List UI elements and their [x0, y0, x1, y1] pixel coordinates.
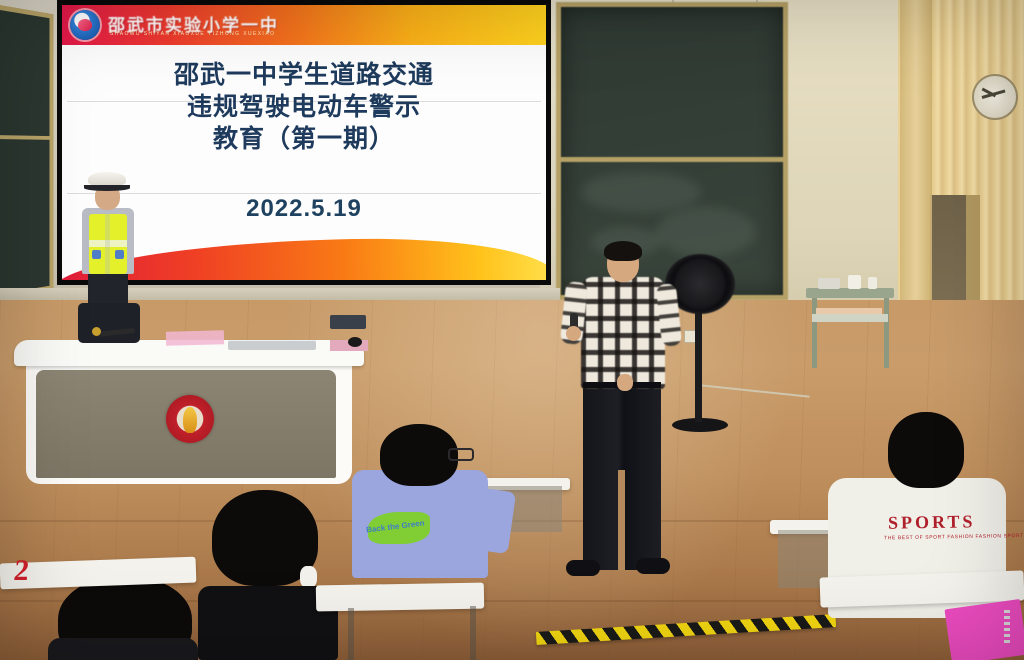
- speaker-leg-gap: [618, 470, 625, 570]
- desk-leg: [348, 608, 354, 660]
- fan-pole: [695, 300, 702, 422]
- lectern: [14, 340, 364, 495]
- student-blue-tee-hair: [380, 424, 458, 486]
- slide-title-line-1: 邵武一中学生道路交通: [62, 59, 546, 91]
- slide-banner: 邵武市实验小学一中 SHAOWU SHIYAN XIAOXUE YIZHONG …: [62, 5, 546, 45]
- officer-cap-brim: [84, 185, 130, 191]
- monitor: [330, 315, 366, 329]
- slide-title-line-2: 违规驾驶电动车警示: [62, 91, 546, 123]
- chalk-smudge: [581, 172, 701, 212]
- screen-panel-seam: [67, 193, 541, 194]
- notebook-spiral: [1004, 610, 1010, 644]
- speaker-plaid-shirt: [581, 277, 665, 389]
- student-desk-front-center: [316, 583, 484, 612]
- slide-title-line-3: 教育（第一期）: [62, 123, 546, 155]
- vest-badge-icon: [92, 250, 101, 259]
- desk-leg: [470, 606, 476, 660]
- speaker-hand: [617, 374, 633, 391]
- school-emblem: [166, 395, 214, 443]
- banner-school-name-en: SHAOWU SHIYAN XIAOXUE YIZHONG XUEXIAO: [110, 31, 275, 37]
- screen-content: 邵武市实验小学一中 SHAOWU SHIYAN XIAOXUE YIZHONG …: [62, 5, 546, 280]
- slide-date: 2022.5.19: [62, 195, 546, 223]
- side-table: [806, 288, 894, 298]
- speaker-shoe: [566, 560, 600, 576]
- side-table-shelf: [812, 314, 888, 322]
- screen-panel-seam: [67, 101, 541, 102]
- side-table-leg: [884, 296, 889, 368]
- speaker-hair: [604, 241, 642, 261]
- right-blackboard: [556, 2, 788, 300]
- glasses-icon: [448, 448, 474, 461]
- student-front-left-body: [48, 638, 198, 660]
- school-badge-icon: [70, 10, 100, 40]
- pink-notebook: [944, 599, 1024, 660]
- keyboard[interactable]: [228, 340, 316, 350]
- slide-body: 邵武一中学生道路交通 违规驾驶电动车警示 教育（第一期） 2022.5.19: [62, 45, 546, 280]
- wall-clock: [972, 74, 1018, 120]
- sports-shirt-print: SPORTS: [888, 511, 976, 534]
- side-table-cup: [848, 275, 861, 289]
- officer-hi-vis-vest: [89, 214, 127, 274]
- microphone-head: [92, 327, 101, 336]
- mouse[interactable]: [348, 337, 362, 347]
- blackboard-divider: [0, 135, 49, 140]
- side-table-box: [818, 278, 840, 289]
- left-blackboard: [0, 4, 53, 300]
- office-chair-back: [78, 303, 140, 343]
- side-table-cup: [868, 277, 877, 289]
- officer-cap: [88, 172, 126, 186]
- vest-badge-icon: [115, 250, 124, 259]
- blackboard-divider: [561, 157, 783, 162]
- pink-paper: [166, 330, 224, 346]
- chalk-smudge: [656, 207, 756, 257]
- slide-title: 邵武一中学生道路交通 违规驾驶电动车警示 教育（第一期）: [62, 59, 546, 155]
- speaker-hand: [566, 326, 581, 341]
- speaker-shoe: [636, 558, 670, 574]
- classroom-photo: 邵武市实验小学一中 SHAOWU SHIYAN XIAOXUE YIZHONG …: [0, 0, 1024, 660]
- face-mask: [300, 566, 317, 588]
- slide-wave-front: [62, 235, 546, 280]
- side-table-leg: [812, 296, 817, 368]
- student-sports-hair: [888, 412, 964, 488]
